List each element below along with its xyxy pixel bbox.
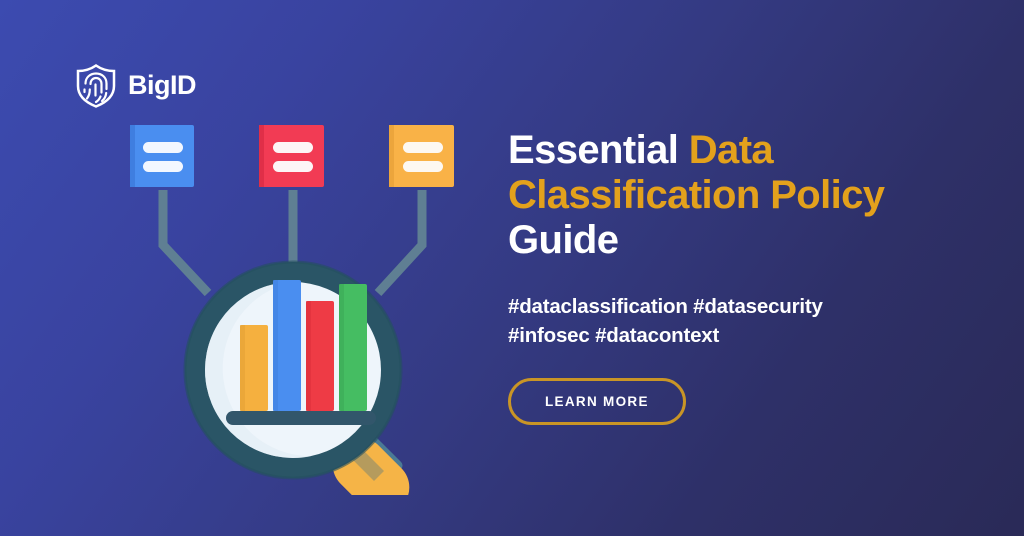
classification-card-blue — [130, 125, 194, 187]
bigid-logo[interactable]: BigID — [74, 62, 196, 108]
classification-card-red — [259, 125, 324, 187]
promo-banner: BigID — [0, 0, 1024, 536]
hashtag-line-2: #infosec #datacontext — [508, 324, 719, 347]
bigid-wordmark: BigID — [128, 72, 196, 99]
fingerprint-shield-icon — [74, 62, 118, 108]
text-content: Essential Data Classification Policy Gui… — [508, 128, 978, 425]
classification-card-orange — [389, 125, 454, 187]
headline-part-1: Essential — [508, 128, 689, 172]
headline-part-3: Guide — [508, 218, 618, 262]
hashtag-line-1: #dataclassification #datasecurity — [508, 295, 823, 318]
learn-more-button[interactable]: LEARN MORE — [508, 378, 686, 425]
data-classification-magnifier-illustration — [130, 125, 470, 495]
page-title: Essential Data Classification Policy Gui… — [508, 128, 978, 264]
chart-baseline — [226, 411, 376, 425]
hashtag-block: #dataclassification #datasecurity#infose… — [508, 292, 978, 350]
